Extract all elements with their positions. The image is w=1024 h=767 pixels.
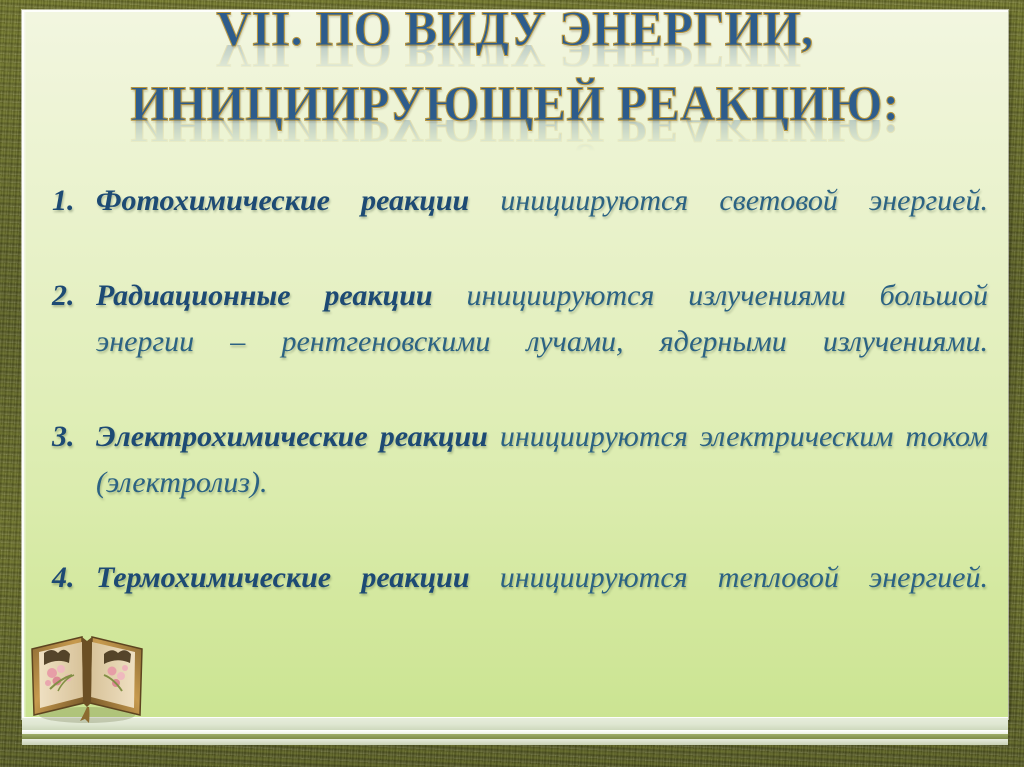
title-line-1-reflection: VII. ПО ВИДУ ЭНЕРГИИ, xyxy=(45,45,986,77)
list-item-number: 4. xyxy=(52,555,96,601)
justify-filler xyxy=(96,607,988,640)
list-item-number: 1. xyxy=(52,178,96,224)
list-item: 4. Термохимические реакции инициируются … xyxy=(52,555,988,647)
list-item-text: Радиационные реакции инициируются излуче… xyxy=(96,273,988,411)
list-item-rest: инициируются световой энергией. xyxy=(469,184,988,217)
title-line-2-reflection: ИНИЦИИРУЮЩЕЙ РЕАКЦИЮ: xyxy=(45,120,986,152)
list-item-number: 2. xyxy=(52,273,96,319)
list-item-term: Электрохимические реакции xyxy=(96,420,488,453)
slide-title: VII. ПО ВИДУ ЭНЕРГИИ, VII. ПО ВИДУ ЭНЕРГ… xyxy=(30,2,1000,152)
justify-filler xyxy=(96,230,988,263)
list-item: 3. Электрохимические реакции инициируютс… xyxy=(52,414,988,552)
list-item-number: 3. xyxy=(52,414,96,460)
slide: VII. ПО ВИДУ ЭНЕРГИИ, VII. ПО ВИДУ ЭНЕРГ… xyxy=(0,0,1024,767)
list-item-text: Фотохимические реакции инициируются свет… xyxy=(96,178,988,270)
numbered-list: 1. Фотохимические реакции инициируются с… xyxy=(52,178,988,650)
justify-filler xyxy=(96,371,988,404)
list-item-text: Электрохимические реакции инициируются э… xyxy=(96,414,988,552)
bottom-shelf-decoration xyxy=(22,717,1008,745)
justify-filler xyxy=(96,512,988,545)
list-item-text: Термохимические реакции инициируются теп… xyxy=(96,555,988,647)
list-item: 1. Фотохимические реакции инициируются с… xyxy=(52,178,988,270)
list-item-term: Радиационные реакции xyxy=(96,279,433,312)
list-item: 2. Радиационные реакции инициируются изл… xyxy=(52,273,988,411)
list-item-rest: инициируются тепловой энергией. xyxy=(470,561,988,594)
shelf-band-light xyxy=(22,717,1008,730)
list-item-term: Термохимические реакции xyxy=(96,561,470,594)
list-item-term: Фотохимические реакции xyxy=(96,184,469,217)
shelf-band-pale xyxy=(22,739,1008,745)
